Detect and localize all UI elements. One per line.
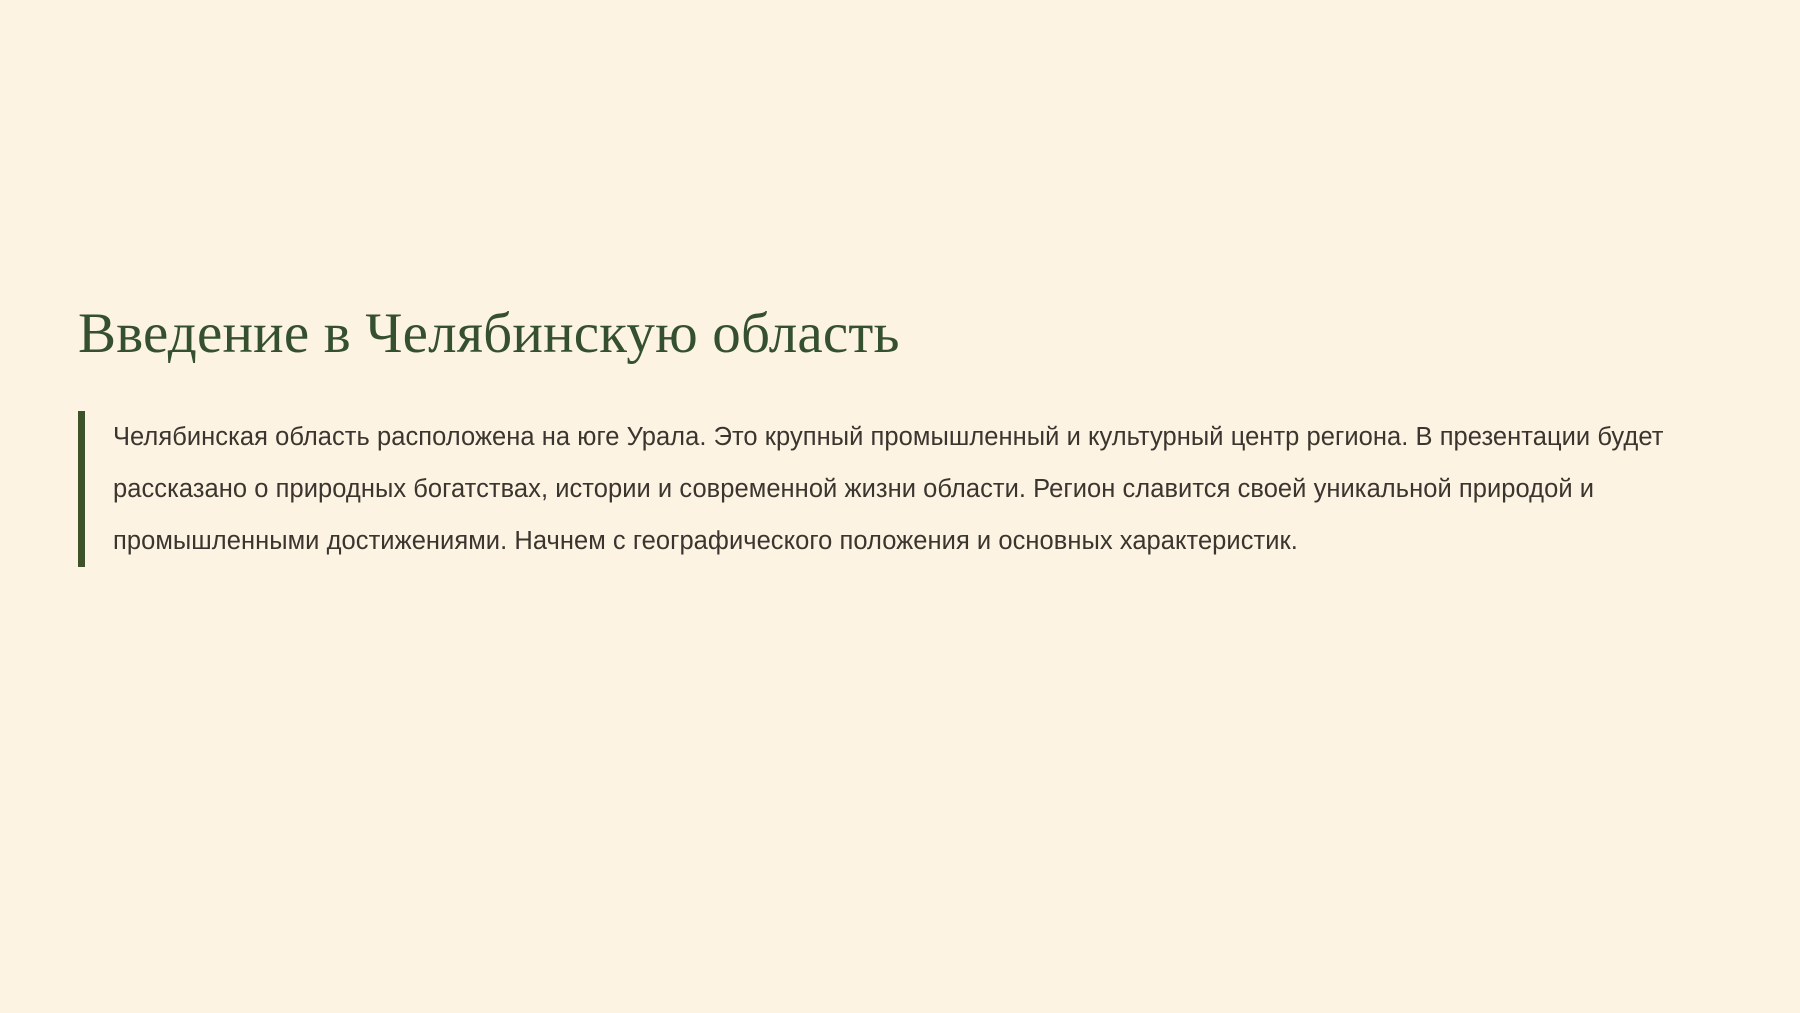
presentation-slide: Введение в Челябинскую область Челябинск… bbox=[0, 0, 1800, 1013]
body-paragraph: Челябинская область расположена на юге У… bbox=[113, 411, 1718, 567]
slide-content: Введение в Челябинскую область Челябинск… bbox=[78, 300, 1718, 567]
accent-bar bbox=[78, 411, 85, 567]
page-title: Введение в Челябинскую область bbox=[78, 300, 1718, 367]
body-callout: Челябинская область расположена на юге У… bbox=[78, 411, 1718, 567]
